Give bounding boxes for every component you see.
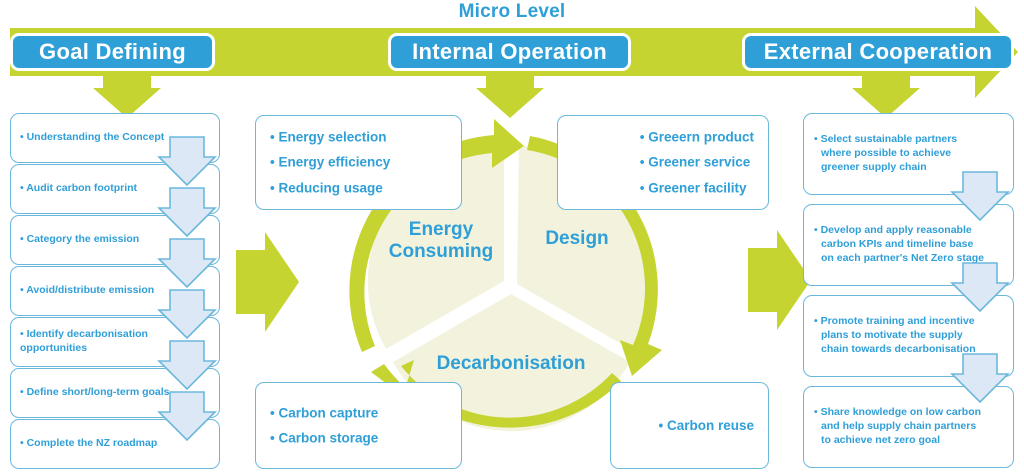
goal-step-box-3[interactable]: • Category the emission (10, 215, 220, 265)
external-step-text-1: • Select sustainable partners where poss… (814, 133, 1005, 175)
callout-energy-item-1: • Energy selection (270, 124, 390, 150)
cycle-label-energy-line2: Consuming (389, 241, 494, 262)
callout-carbon-reuse-list: • Carbon reuse (658, 413, 754, 439)
arrow-goal-to-internal (236, 232, 299, 332)
goal-step-label-5: • Identify decarbonisation opportunities (20, 328, 213, 356)
external-step-2-line2: carbon KPIs and timeline base (814, 238, 1005, 252)
cycle-label-energy-line1: Energy (409, 219, 473, 240)
callout-design-item-1: • Greeern product (640, 124, 754, 150)
diagram-canvas: Micro Level Goal Defining Internal Opera… (0, 0, 1024, 476)
cycle-label-decarbonisation: Decarbonisation (421, 353, 601, 375)
external-step-text-4: • Share knowledge on low carbon and help… (814, 406, 1005, 448)
external-step-text-3: • Promote training and incentive plans t… (814, 315, 1005, 357)
external-step-3-line2: plans to motivate the supply (814, 329, 1005, 343)
callout-design-item-3: • Greener facility (640, 175, 754, 201)
goal-step-label-3: • Category the emission (20, 233, 213, 247)
callout-carbon-storage-item-1: • Carbon capture (270, 400, 378, 426)
goal-step-box-1[interactable]: • Understanding the Concept (10, 113, 220, 163)
external-step-box-4[interactable]: • Share knowledge on low carbon and help… (803, 386, 1014, 468)
stage-pill-internal-operation[interactable]: Internal Operation (388, 33, 631, 71)
goal-step-box-6[interactable]: • Define short/long-term goals (10, 368, 220, 418)
external-step-4-line2: and help supply chain partners (814, 420, 1005, 434)
callout-box-carbon-reuse[interactable]: • Carbon reuse (610, 382, 769, 469)
stage-pill-external-cooperation[interactable]: External Cooperation (742, 33, 1014, 71)
goal-step-box-4[interactable]: • Avoid/distribute emission (10, 266, 220, 316)
external-step-1-line1: • Select sustainable partners (814, 133, 1005, 147)
callout-box-energy[interactable]: • Energy selection • Energy efficiency •… (255, 115, 462, 210)
goal-step-box-5[interactable]: • Identify decarbonisation opportunities (10, 317, 220, 367)
cycle-label-design: Design (523, 228, 631, 250)
external-step-1-line3: greener supply chain (814, 161, 1005, 175)
callout-energy-list: • Energy selection • Energy efficiency •… (270, 124, 390, 201)
goal-step-label-7: • Complete the NZ roadmap (20, 437, 213, 451)
external-step-3-line3: chain towards decarbonisation (814, 343, 1005, 357)
external-step-4-line3: to achieve net zero goal (814, 434, 1005, 448)
external-step-box-1[interactable]: • Select sustainable partners where poss… (803, 113, 1014, 195)
external-step-4-line1: • Share knowledge on low carbon (814, 406, 1005, 420)
external-cooperation-column: • Select sustainable partners where poss… (803, 113, 1014, 471)
callout-carbon-reuse-item-1: • Carbon reuse (658, 413, 754, 439)
cycle-label-energy-consuming: Energy Consuming (371, 219, 511, 263)
callout-box-design[interactable]: • Greeern product • Greener service • Gr… (557, 115, 769, 210)
callout-design-item-2: • Greener service (640, 150, 754, 176)
goal-step-label-4: • Avoid/distribute emission (20, 284, 213, 298)
external-step-1-line2: where possible to achieve (814, 147, 1005, 161)
callout-design-list: • Greeern product • Greener service • Gr… (640, 124, 754, 201)
external-step-2-line3: on each partner's Net Zero stage (814, 252, 1005, 266)
callout-carbon-storage-list: • Carbon capture • Carbon storage (270, 400, 378, 451)
arrow-internal-to-external (748, 230, 811, 330)
goal-step-box-2[interactable]: • Audit carbon footprint (10, 164, 220, 214)
external-step-box-2[interactable]: • Develop and apply reasonable carbon KP… (803, 204, 1014, 286)
goal-step-label-1: • Understanding the Concept (20, 131, 213, 145)
external-step-box-3[interactable]: • Promote training and incentive plans t… (803, 295, 1014, 377)
external-step-text-2: • Develop and apply reasonable carbon KP… (814, 224, 1005, 266)
goal-defining-column: • Understanding the Concept • Audit carb… (10, 113, 220, 471)
callout-carbon-storage-item-2: • Carbon storage (270, 426, 378, 452)
stage-pill-goal-defining[interactable]: Goal Defining (10, 33, 215, 71)
goal-step-label-2: • Audit carbon footprint (20, 182, 213, 196)
callout-energy-item-3: • Reducing usage (270, 175, 390, 201)
callout-energy-item-2: • Energy efficiency (270, 150, 390, 176)
external-step-3-line1: • Promote training and incentive (814, 315, 1005, 329)
callout-box-carbon-storage[interactable]: • Carbon capture • Carbon storage (255, 382, 462, 469)
external-step-2-line1: • Develop and apply reasonable (814, 224, 1005, 238)
band-title: Micro Level (0, 1, 1024, 23)
goal-step-box-7[interactable]: • Complete the NZ roadmap (10, 419, 220, 469)
goal-step-label-6: • Define short/long-term goals (20, 386, 213, 400)
